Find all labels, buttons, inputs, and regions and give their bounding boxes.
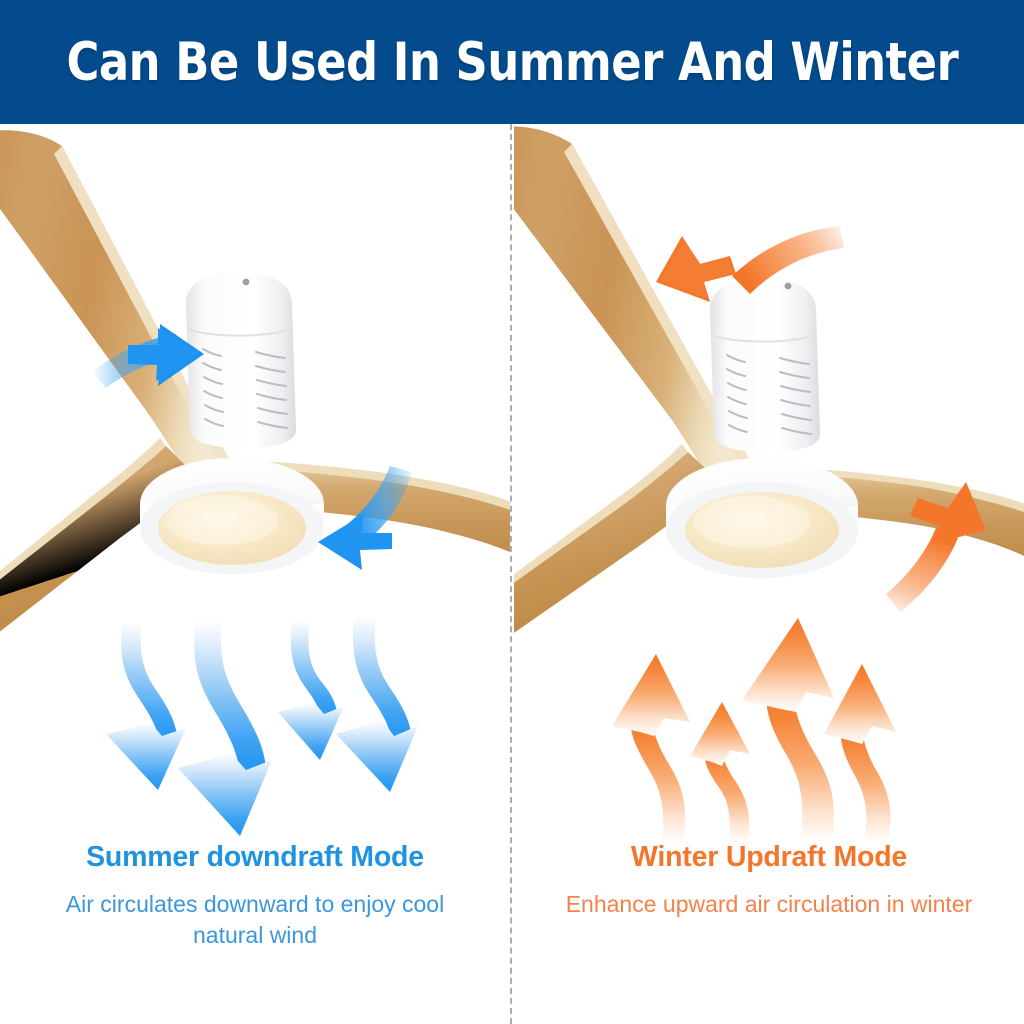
ceiling-fan-icon-winter xyxy=(514,124,1024,644)
airflow-svg-winter xyxy=(514,594,1024,844)
motor-housing xyxy=(710,278,820,452)
caption-title-winter: Winter Updraft Mode xyxy=(514,842,1024,873)
airflow-arrow xyxy=(612,654,690,842)
light-diffuser-highlight xyxy=(166,495,278,545)
airflow-arrow xyxy=(278,620,344,760)
updraft-arrows-icon xyxy=(514,594,1024,844)
rotation-arrow-counterclockwise-icon xyxy=(656,226,844,302)
ceiling-fan-icon-summer xyxy=(0,124,510,644)
housing-screw-icon xyxy=(785,283,792,290)
airflow-arrow xyxy=(106,622,186,790)
header-banner: Can Be Used In Summer And Winter xyxy=(0,0,1024,124)
airflow-arrow xyxy=(178,620,272,836)
airflow-arrow xyxy=(336,616,418,792)
fan-svg-winter xyxy=(514,124,1024,644)
housing-screw-icon xyxy=(243,279,250,286)
airflow-arrow xyxy=(690,702,750,842)
caption-winter: Winter Updraft Mode Enhance upward air c… xyxy=(514,842,1024,920)
airflow-arrow xyxy=(824,664,896,842)
downdraft-arrows-icon xyxy=(0,594,510,844)
airflow-arrow xyxy=(742,618,834,842)
caption-summer: Summer downdraft Mode Air circulates dow… xyxy=(0,842,510,950)
caption-subtitle-summer: Air circulates downward to enjoy cool na… xyxy=(0,889,510,950)
page-title: Can Be Used In Summer And Winter xyxy=(66,32,958,93)
motor-housing xyxy=(186,272,296,448)
light-diffuser-highlight xyxy=(694,496,810,548)
caption-subtitle-winter: Enhance upward air circulation in winter xyxy=(514,889,1024,919)
fan-svg-summer xyxy=(0,124,510,644)
airflow-svg-summer xyxy=(0,594,510,844)
comparison-stage: Summer downdraft Mode Air circulates dow… xyxy=(0,124,1024,1024)
caption-title-summer: Summer downdraft Mode xyxy=(0,842,510,873)
